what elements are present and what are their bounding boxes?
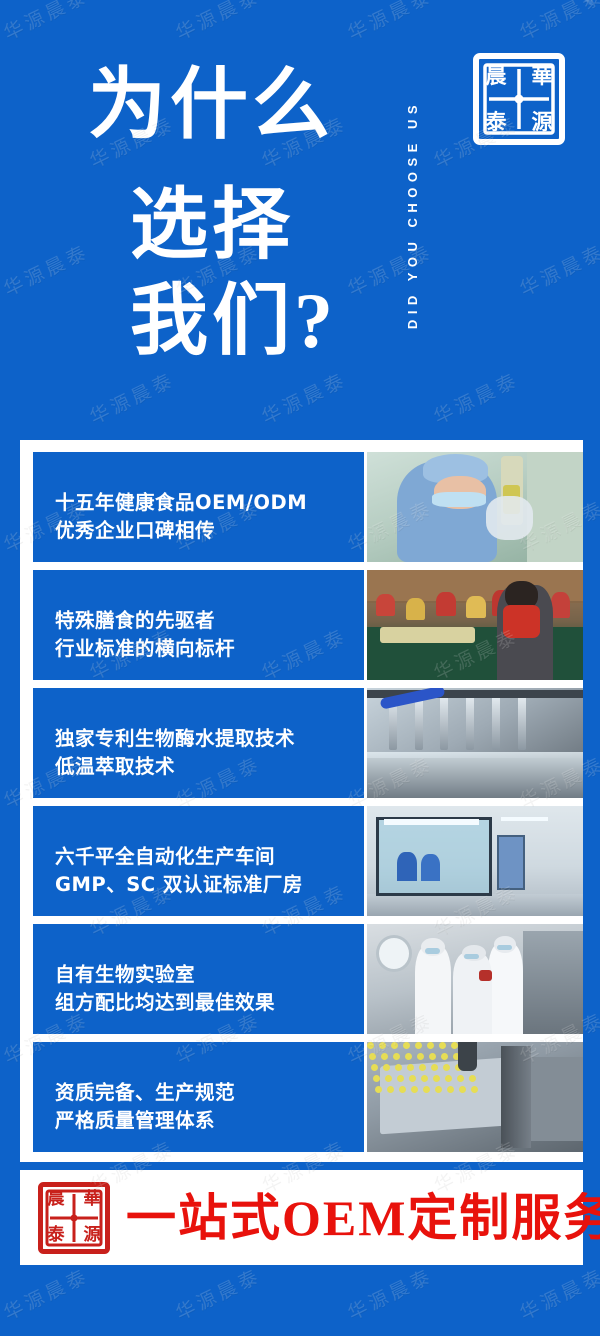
tablet-dot bbox=[383, 1064, 390, 1071]
tablet-dot bbox=[427, 1042, 434, 1049]
seal-char-3: 泰 bbox=[486, 112, 507, 133]
tablet-dot bbox=[387, 1086, 394, 1093]
tablet-dot bbox=[393, 1053, 400, 1060]
feature-card-line: 严格质量管理体系 bbox=[55, 1107, 364, 1135]
feature-card-line: GMP、SC 双认证标准厂房 bbox=[55, 871, 364, 899]
tablet-dot bbox=[459, 1086, 466, 1093]
feature-card-text: 自有生物实验室 组方配比均达到最佳效果 bbox=[33, 924, 364, 1034]
tablet-dot bbox=[381, 1053, 388, 1060]
poster-root: WHY 为什么 选择 我们? DID YOU CHOOSE US 晨 華 泰 源 bbox=[0, 0, 600, 1336]
seal-char-4: 源 bbox=[84, 1227, 101, 1244]
tablet-dot bbox=[409, 1075, 416, 1082]
company-seal-header: 晨 華 泰 源 bbox=[473, 53, 565, 145]
feature-card-text: 特殊膳食的先驱者 行业标准的横向标杆 bbox=[33, 570, 364, 680]
seal-char-3: 泰 bbox=[48, 1227, 65, 1244]
banner-slogan: 一站式OEM定制服务 bbox=[126, 1193, 600, 1243]
feature-card-line: 六千平全自动化生产车间 bbox=[55, 843, 364, 871]
feature-card[interactable]: 特殊膳食的先驱者 行业标准的横向标杆 bbox=[33, 570, 583, 680]
tablet-dot bbox=[435, 1086, 442, 1093]
feature-card-line: 自有生物实验室 bbox=[55, 961, 364, 989]
feature-card[interactable]: 资质完备、生产规范 严格质量管理体系 bbox=[33, 1042, 583, 1152]
lab-technician-photo bbox=[367, 452, 583, 562]
header-section: WHY 为什么 选择 我们? DID YOU CHOOSE US 晨 華 泰 源 bbox=[0, 0, 600, 440]
conference-audience-photo bbox=[367, 570, 583, 680]
tablet-dot bbox=[439, 1042, 446, 1049]
page-title: 为什么 选择 我们? bbox=[0, 0, 430, 440]
watermark-text: 华源晨泰 bbox=[515, 1261, 600, 1326]
vertical-english-tagline: DID YOU CHOOSE US bbox=[398, 20, 426, 410]
filling-machine-photo bbox=[367, 688, 583, 798]
tablet-dot bbox=[471, 1086, 478, 1093]
bottom-banner[interactable]: 晨 華 泰 源 一站式OEM定制服务 bbox=[20, 1170, 583, 1265]
feature-card-line: 特殊膳食的先驱者 bbox=[55, 607, 364, 635]
feature-card-line: 独家专利生物酶水提取技术 bbox=[55, 725, 364, 753]
seal-char-1: 晨 bbox=[486, 66, 507, 87]
tablet-dot bbox=[411, 1086, 418, 1093]
tablet-dot bbox=[375, 1086, 382, 1093]
cleanroom-corridor-photo bbox=[367, 806, 583, 916]
tablet-dot bbox=[379, 1042, 386, 1049]
tablet-dot bbox=[445, 1075, 452, 1082]
seal-char-4: 源 bbox=[532, 112, 553, 133]
tablet-dot bbox=[441, 1053, 448, 1060]
title-line-2: 选择 bbox=[130, 186, 294, 264]
feature-card[interactable]: 十五年健康食品OEM/ODM 优秀企业口碑相传 bbox=[33, 452, 583, 562]
feature-card[interactable]: 独家专利生物酶水提取技术 低温萃取技术 bbox=[33, 688, 583, 798]
tablet-dot bbox=[403, 1042, 410, 1049]
feature-card-text: 六千平全自动化生产车间 GMP、SC 双认证标准厂房 bbox=[33, 806, 364, 916]
tablet-dot bbox=[457, 1075, 464, 1082]
seal-char-1: 晨 bbox=[48, 1191, 65, 1208]
vertical-english-text: DID YOU CHOOSE US bbox=[405, 100, 420, 329]
watermark-text: 华源晨泰 bbox=[0, 1261, 93, 1326]
tablet-dot bbox=[443, 1064, 450, 1071]
tablet-dot bbox=[417, 1053, 424, 1060]
seal-char-2: 華 bbox=[532, 66, 553, 87]
feature-card-line: 低温萃取技术 bbox=[55, 753, 364, 781]
feature-card-text: 十五年健康食品OEM/ODM 优秀企业口碑相传 bbox=[33, 452, 364, 562]
tablet-dot bbox=[469, 1075, 476, 1082]
tablet-packing-photo bbox=[367, 1042, 583, 1152]
feature-card-line: 十五年健康食品OEM/ODM bbox=[55, 489, 364, 517]
tablet-dot bbox=[367, 1042, 374, 1049]
tablet-dot bbox=[421, 1075, 428, 1082]
tablet-dot bbox=[397, 1075, 404, 1082]
title-line-3: 我们? bbox=[130, 282, 337, 360]
feature-card-list: 十五年健康食品OEM/ODM 优秀企业口碑相传 特殊膳食的先驱者 行业标准的横向… bbox=[20, 440, 583, 1162]
feature-card-line: 优秀企业口碑相传 bbox=[55, 517, 364, 545]
tablet-dot bbox=[399, 1086, 406, 1093]
lab-staff-photo bbox=[367, 924, 583, 1034]
tablet-dot bbox=[433, 1075, 440, 1082]
tablet-dot bbox=[429, 1053, 436, 1060]
feature-card-line: 行业标准的横向标杆 bbox=[55, 635, 364, 663]
watermark-text: 华源晨泰 bbox=[0, 877, 7, 942]
tablet-dot bbox=[371, 1064, 378, 1071]
seal-char-2: 華 bbox=[84, 1191, 101, 1208]
feature-card-text: 资质完备、生产规范 严格质量管理体系 bbox=[33, 1042, 364, 1152]
feature-card-line: 组方配比均达到最佳效果 bbox=[55, 989, 364, 1017]
feature-card[interactable]: 六千平全自动化生产车间 GMP、SC 双认证标准厂房 bbox=[33, 806, 583, 916]
tablet-dot bbox=[395, 1064, 402, 1071]
feature-card-text: 独家专利生物酶水提取技术 低温萃取技术 bbox=[33, 688, 364, 798]
title-line-1: 为什么 bbox=[88, 66, 334, 144]
watermark-text: 华源晨泰 bbox=[343, 1261, 438, 1326]
watermark-text: 华源晨泰 bbox=[171, 1261, 266, 1326]
company-seal-bottom: 晨 華 泰 源 bbox=[38, 1182, 110, 1254]
tablet-dot bbox=[373, 1075, 380, 1082]
tablet-dot bbox=[407, 1064, 414, 1071]
tablet-dot bbox=[385, 1075, 392, 1082]
tablet-dot bbox=[419, 1064, 426, 1071]
feature-card-line: 资质完备、生产规范 bbox=[55, 1079, 364, 1107]
tablet-dot bbox=[369, 1053, 376, 1060]
tablet-dot bbox=[405, 1053, 412, 1060]
tablet-dot bbox=[451, 1042, 458, 1049]
tablet-dot bbox=[431, 1064, 438, 1071]
tablet-dot bbox=[415, 1042, 422, 1049]
tablet-dot bbox=[423, 1086, 430, 1093]
watermark-text: 华源晨泰 bbox=[0, 621, 7, 686]
feature-card[interactable]: 自有生物实验室 组方配比均达到最佳效果 bbox=[33, 924, 583, 1034]
tablet-dot bbox=[447, 1086, 454, 1093]
watermark-text: 华源晨泰 bbox=[0, 1133, 7, 1198]
tablet-dot bbox=[391, 1042, 398, 1049]
